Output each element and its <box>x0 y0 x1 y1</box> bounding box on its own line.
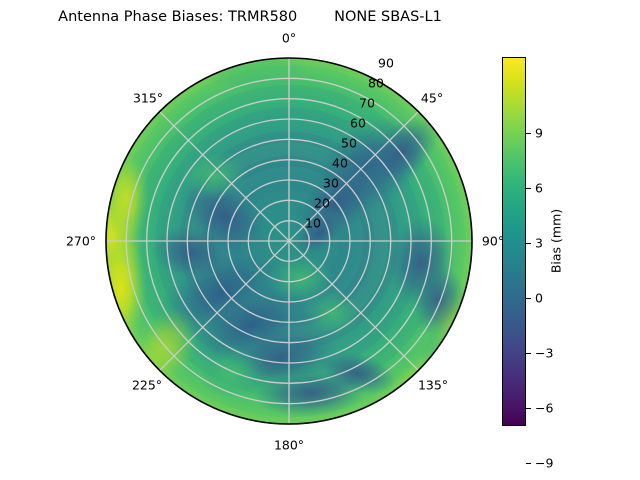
azimuth-label-225: 225° <box>132 378 162 393</box>
figure-canvas: Antenna Phase Biases: TRMR580 NONE SBAS-… <box>0 0 640 480</box>
radial-label-20: 20 <box>314 196 330 211</box>
radial-label-30: 30 <box>323 176 339 191</box>
radial-label-50: 50 <box>341 136 357 151</box>
colorbar-tick-9 <box>526 133 531 134</box>
radial-label-90: 90 <box>378 56 394 71</box>
azimuth-label-90: 90° <box>482 234 504 249</box>
azimuth-label-45: 45° <box>421 91 443 106</box>
colorbar-ticklabel-m9: −9 <box>535 456 553 471</box>
radial-label-60: 60 <box>350 116 366 131</box>
polar-grid-spokes <box>106 58 472 424</box>
colorbar-ticklabel-0: 0 <box>535 291 543 306</box>
colorbar-ticklabel-9: 9 <box>535 126 543 141</box>
colorbar-ticklabel-m6: −6 <box>535 401 553 416</box>
azimuth-label-315: 315° <box>133 91 163 106</box>
radial-label-10: 10 <box>305 216 321 231</box>
colorbar-tick-m9 <box>526 463 531 464</box>
azimuth-label-135: 135° <box>418 378 448 393</box>
polar-contour-plot <box>105 57 473 425</box>
colorbar-axis-label: Bias (mm) <box>549 209 564 273</box>
azimuth-label-180: 180° <box>274 438 304 453</box>
colorbar-gradient <box>502 57 526 426</box>
colorbar-tick-6 <box>526 188 531 189</box>
colorbar-ticklabel-m3: −3 <box>535 346 553 361</box>
colorbar-tick-m3 <box>526 353 531 354</box>
polar-axes: 0° 45° 90° 135° 180° 225° 270° 315° 10 2… <box>105 57 473 425</box>
colorbar: 9 6 3 0 −3 −6 −9 <box>502 57 526 426</box>
azimuth-label-0: 0° <box>282 31 296 46</box>
radial-label-70: 70 <box>359 96 375 111</box>
radial-label-40: 40 <box>332 156 348 171</box>
colorbar-ticklabel-6: 6 <box>535 181 543 196</box>
radial-label-80: 80 <box>368 76 384 91</box>
colorbar-ticklabel-3: 3 <box>535 236 543 251</box>
colorbar-tick-3 <box>526 243 531 244</box>
azimuth-label-270: 270° <box>66 234 96 249</box>
colorbar-tick-0 <box>526 298 531 299</box>
page-title: Antenna Phase Biases: TRMR580 NONE SBAS-… <box>0 9 500 25</box>
colorbar-tick-m6 <box>526 408 531 409</box>
